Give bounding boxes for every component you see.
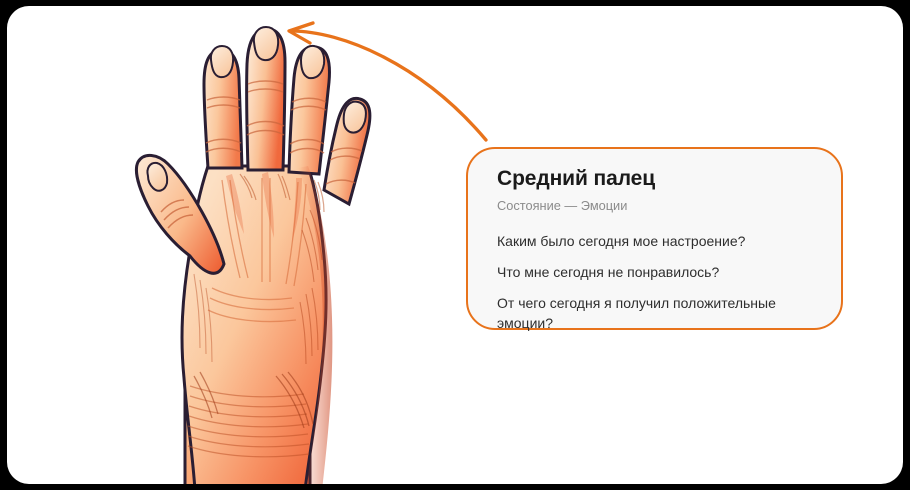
reflection-question: Каким было сегодня мое настроение? xyxy=(497,232,815,252)
callout-subtitle: Состояние — Эмоции xyxy=(497,198,815,213)
pointer-arrow xyxy=(272,16,502,156)
reflection-question: От чего сегодня я получил положительные … xyxy=(497,294,815,334)
reflection-question: Что мне сегодня не понравилось? xyxy=(497,263,815,283)
content-card: Средний палец Состояние — Эмоции Каким б… xyxy=(7,6,903,484)
hand-illustration xyxy=(62,6,442,484)
callout-title: Средний палец xyxy=(497,167,815,191)
screen-root: Средний палец Состояние — Эмоции Каким б… xyxy=(0,0,910,490)
finger-info-callout: Средний палец Состояние — Эмоции Каким б… xyxy=(466,147,843,330)
